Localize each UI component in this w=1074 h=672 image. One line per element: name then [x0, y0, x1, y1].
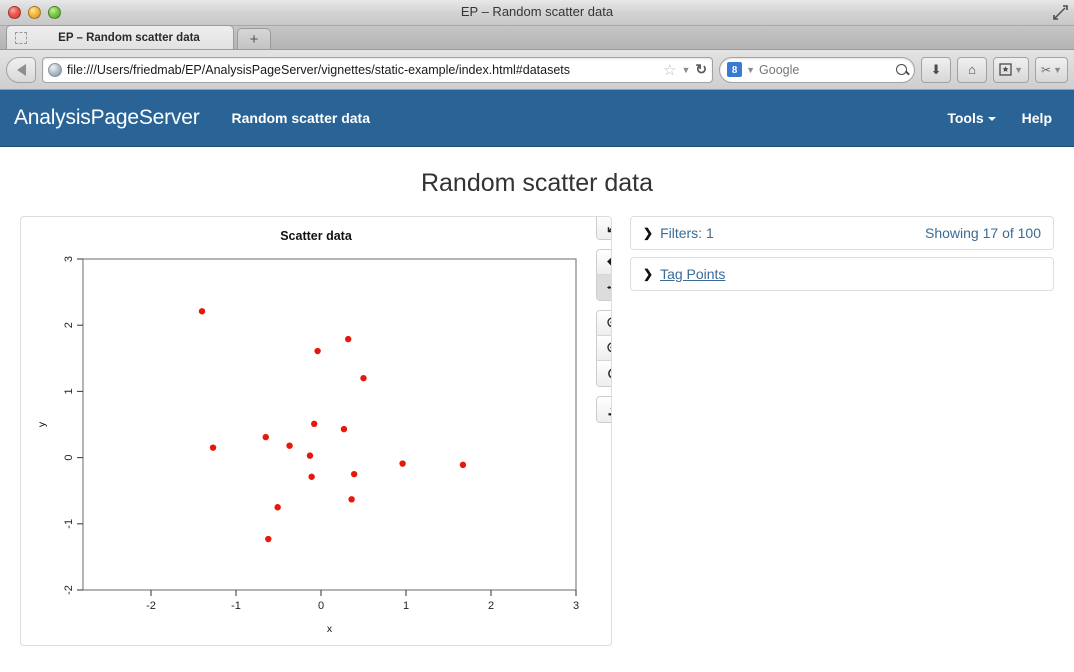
scatter-point[interactable] [348, 496, 354, 502]
page-body: Random scatter data Scatter data -2-1012… [0, 147, 1074, 672]
x-axis-label: x [327, 623, 333, 635]
scatter-point[interactable] [263, 434, 269, 440]
scatter-point[interactable] [351, 471, 357, 477]
navbar-active-page-link[interactable]: Random scatter data [222, 110, 380, 126]
download-icon [606, 402, 613, 417]
pan-move-icon [606, 280, 613, 295]
tag-button[interactable] [597, 250, 613, 275]
tag-icon [605, 255, 612, 270]
scatter-point[interactable] [341, 426, 347, 432]
zoom-in-button[interactable] [597, 311, 613, 336]
window-titlebar: EP – Random scatter data [0, 0, 1074, 26]
plot-toolbar-group-zoom [596, 310, 613, 387]
chevron-down-icon[interactable]: ▼ [681, 65, 690, 75]
customize-button[interactable]: ✂ ▼ [1035, 57, 1068, 83]
chevron-down-icon: ▼ [1014, 65, 1023, 75]
plot-frame [83, 259, 576, 590]
y-tick-label: 2 [63, 322, 75, 328]
browser-tab-0[interactable]: EP – Random scatter data [6, 25, 234, 49]
scatter-point[interactable] [286, 442, 292, 448]
scatter-plot-canvas[interactable]: -2-10123-2-10123xy [21, 217, 612, 646]
window-title: EP – Random scatter data [0, 4, 1074, 19]
scatter-point[interactable] [399, 460, 405, 466]
plot-toolbar [593, 216, 612, 423]
download-arrow-icon: ⬇ [931, 62, 942, 78]
scatter-point[interactable] [314, 348, 320, 354]
x-tick-label: 3 [573, 600, 579, 612]
url-text: file:///Users/friedmab/EP/AnalysisPageSe… [67, 63, 658, 77]
zoom-out-icon [606, 341, 613, 356]
zoom-out-button[interactable] [597, 336, 613, 361]
y-tick-label: 1 [63, 388, 75, 394]
side-panel: ❯ Filters: 1 Showing 17 of 100 ❯ Tag Poi… [630, 216, 1054, 291]
page-content: Scatter data -2-10123-2-10123xy [0, 216, 1074, 646]
navbar-help-link[interactable]: Help [1014, 110, 1060, 126]
app-navbar: AnalysisPageServer Random scatter data T… [0, 90, 1074, 147]
scissors-icon: ✂ [1041, 63, 1051, 77]
scatter-point[interactable] [460, 462, 466, 468]
scatter-point[interactable] [265, 536, 271, 542]
filters-label[interactable]: Filters: 1 [660, 225, 714, 241]
downloads-button[interactable]: ⬇ [921, 57, 951, 83]
scatter-point[interactable] [307, 452, 313, 458]
tag-points-row[interactable]: ❯ Tag Points [630, 257, 1054, 291]
x-tick-label: -1 [231, 600, 241, 612]
chevron-right-icon: ❯ [643, 268, 653, 280]
y-tick-label: 0 [63, 455, 75, 461]
navbar-tools-label: Tools [947, 110, 983, 126]
scatter-point[interactable] [345, 336, 351, 342]
x-tick-label: 1 [403, 600, 409, 612]
lasso-circle-icon [606, 366, 613, 381]
pan-move-button[interactable] [597, 275, 613, 300]
y-tick-label: -2 [63, 585, 75, 595]
y-tick-label: 3 [63, 256, 75, 262]
tab-title: EP – Random scatter data [33, 32, 225, 44]
expand-button[interactable] [597, 216, 613, 239]
plot-toolbar-group-tools [596, 249, 613, 301]
scatter-point[interactable] [274, 504, 280, 510]
filters-toggle[interactable]: ❯ Filters: 1 [643, 225, 714, 241]
tag-points-toggle[interactable]: ❯ Tag Points [643, 266, 725, 282]
chevron-right-icon: ❯ [643, 227, 653, 239]
navbar-right-links: Tools Help [939, 110, 1060, 126]
bookmarks-button[interactable]: ▼ [993, 57, 1029, 83]
download-button[interactable] [597, 397, 613, 422]
tag-points-label[interactable]: Tag Points [660, 266, 725, 282]
browser-tabbar: EP – Random scatter data + [0, 26, 1074, 50]
search-input[interactable]: Google [759, 63, 892, 77]
navbar-tools-menu[interactable]: Tools [939, 110, 1003, 126]
zoom-in-icon [606, 316, 613, 331]
filters-row[interactable]: ❯ Filters: 1 Showing 17 of 100 [630, 216, 1054, 250]
app-brand[interactable]: AnalysisPageServer [14, 106, 200, 130]
fullscreen-icon[interactable] [1051, 3, 1069, 21]
scatter-points[interactable] [199, 308, 466, 542]
browser-navbar: file:///Users/friedmab/EP/AnalysisPageSe… [0, 50, 1074, 90]
star-icon[interactable]: ☆ [663, 61, 676, 79]
scatter-point[interactable] [199, 308, 205, 314]
scatter-plot-panel: Scatter data -2-10123-2-10123xy [20, 216, 612, 646]
scatter-point[interactable] [311, 421, 317, 427]
y-axis-label: y [36, 421, 48, 427]
back-arrow-icon [17, 64, 26, 76]
y-tick-label: -1 [63, 519, 75, 529]
lasso-select-button[interactable] [597, 361, 613, 386]
google-g-icon: 8 [727, 62, 742, 77]
reload-icon[interactable]: ↻ [695, 61, 707, 78]
showing-count-label: Showing 17 of 100 [925, 225, 1041, 241]
search-bar[interactable]: 8 ▼ Google [719, 57, 915, 83]
scatter-point[interactable] [360, 375, 366, 381]
home-icon: ⌂ [968, 62, 976, 77]
scatter-point[interactable] [210, 444, 216, 450]
bookmark-star-icon [999, 63, 1012, 76]
x-tick-label: -2 [146, 600, 156, 612]
globe-icon [48, 63, 62, 77]
plot-toolbar-group-download [596, 396, 613, 423]
new-tab-button[interactable]: + [237, 28, 271, 49]
back-button[interactable] [6, 57, 36, 83]
chevron-down-icon[interactable]: ▼ [746, 65, 755, 75]
x-tick-label: 0 [318, 600, 324, 612]
url-bar[interactable]: file:///Users/friedmab/EP/AnalysisPageSe… [42, 57, 713, 83]
scatter-point[interactable] [308, 474, 314, 480]
x-tick-label: 2 [488, 600, 494, 612]
tab-favicon-icon [15, 32, 27, 44]
page-title: Random scatter data [0, 147, 1074, 216]
home-button[interactable]: ⌂ [957, 57, 987, 83]
plot-toolbar-group-expand [596, 216, 613, 240]
magnifier-icon[interactable] [896, 64, 907, 75]
chevron-down-icon: ▼ [1053, 65, 1062, 75]
expand-icon [606, 219, 613, 234]
caret-down-icon [988, 117, 996, 121]
